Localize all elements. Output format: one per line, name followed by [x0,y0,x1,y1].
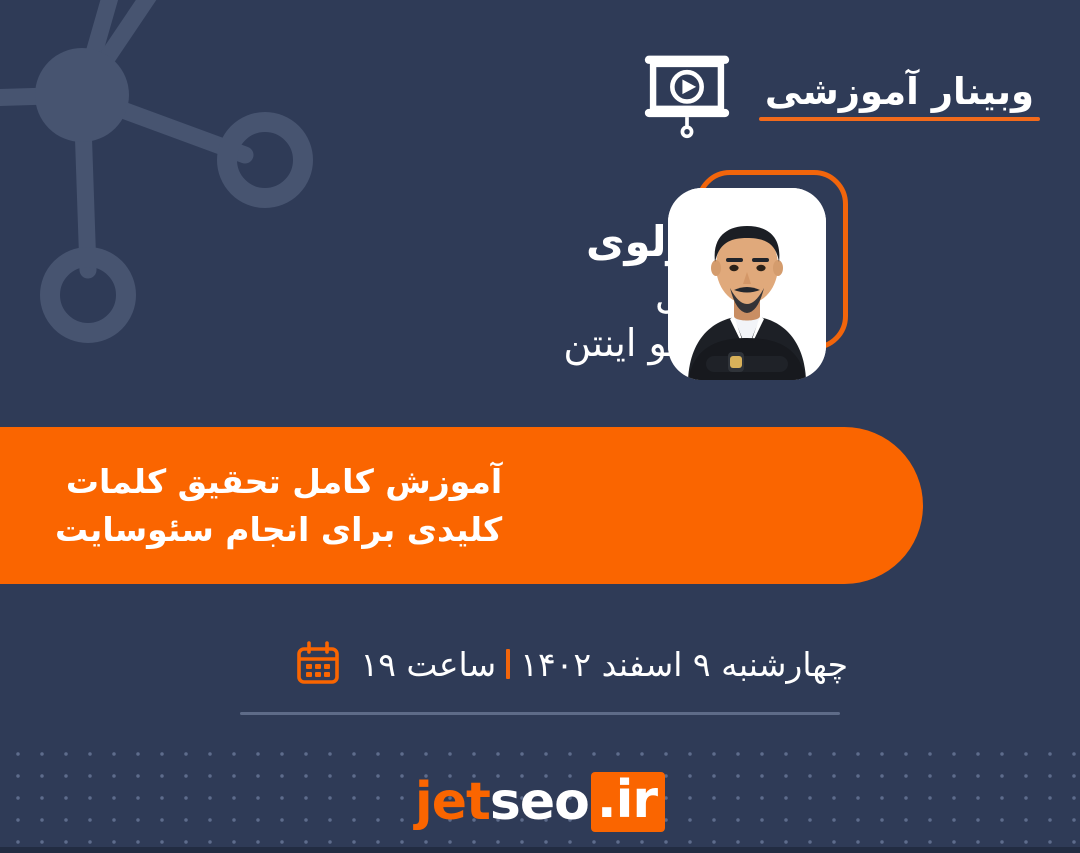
eyebrow-group: وبینار آموزشی [759,71,1040,122]
eyebrow-underline [759,117,1040,121]
title-banner-text: آموزش کامل تحقیق کلمات کلیدی برای انجام … [0,458,526,554]
section-divider [240,712,840,715]
logo-part-seo: seo [490,772,589,832]
brand-logo: jet seo .ir [0,772,1080,832]
network-node-bottom [50,257,126,333]
brand-logo-inner: jet seo .ir [415,772,665,832]
schedule-separator [506,649,510,679]
title-line-2: کلیدی برای انجام سئوسایت [0,506,502,554]
network-hub-node [35,48,129,142]
logo-part-tld: .ir [591,772,665,832]
schedule-time: ساعت ۱۹ [360,645,496,684]
schedule-text: چهارشنبه ۹ اسفند ۱۴۰۲ ساعت ۱۹ [360,645,848,684]
logo-part-jet: jet [415,772,490,832]
network-graphic [0,0,380,360]
calendar-icon [294,640,342,688]
network-node-right [227,122,303,198]
schedule-row: چهارشنبه ۹ اسفند ۱۴۰۲ ساعت ۱۹ [294,640,848,688]
schedule-date: چهارشنبه ۹ اسفند ۱۴۰۲ [520,645,848,684]
portrait-photo [668,188,826,380]
webinar-poster: وبینار آموزشی تقی مولوی مدیر عامل آژانس … [0,0,1080,853]
eyebrow-label: وبینار آموزشی [759,71,1040,118]
bottom-edge-strip [0,847,1080,853]
speaker-portrait [668,170,848,385]
title-banner: آموزش کامل تحقیق کلمات کلیدی برای انجام … [0,427,923,584]
title-line-1: آموزش کامل تحقیق کلمات [0,458,502,506]
projector-screen-play-icon [641,52,733,140]
header: وبینار آموزشی [641,52,1040,140]
